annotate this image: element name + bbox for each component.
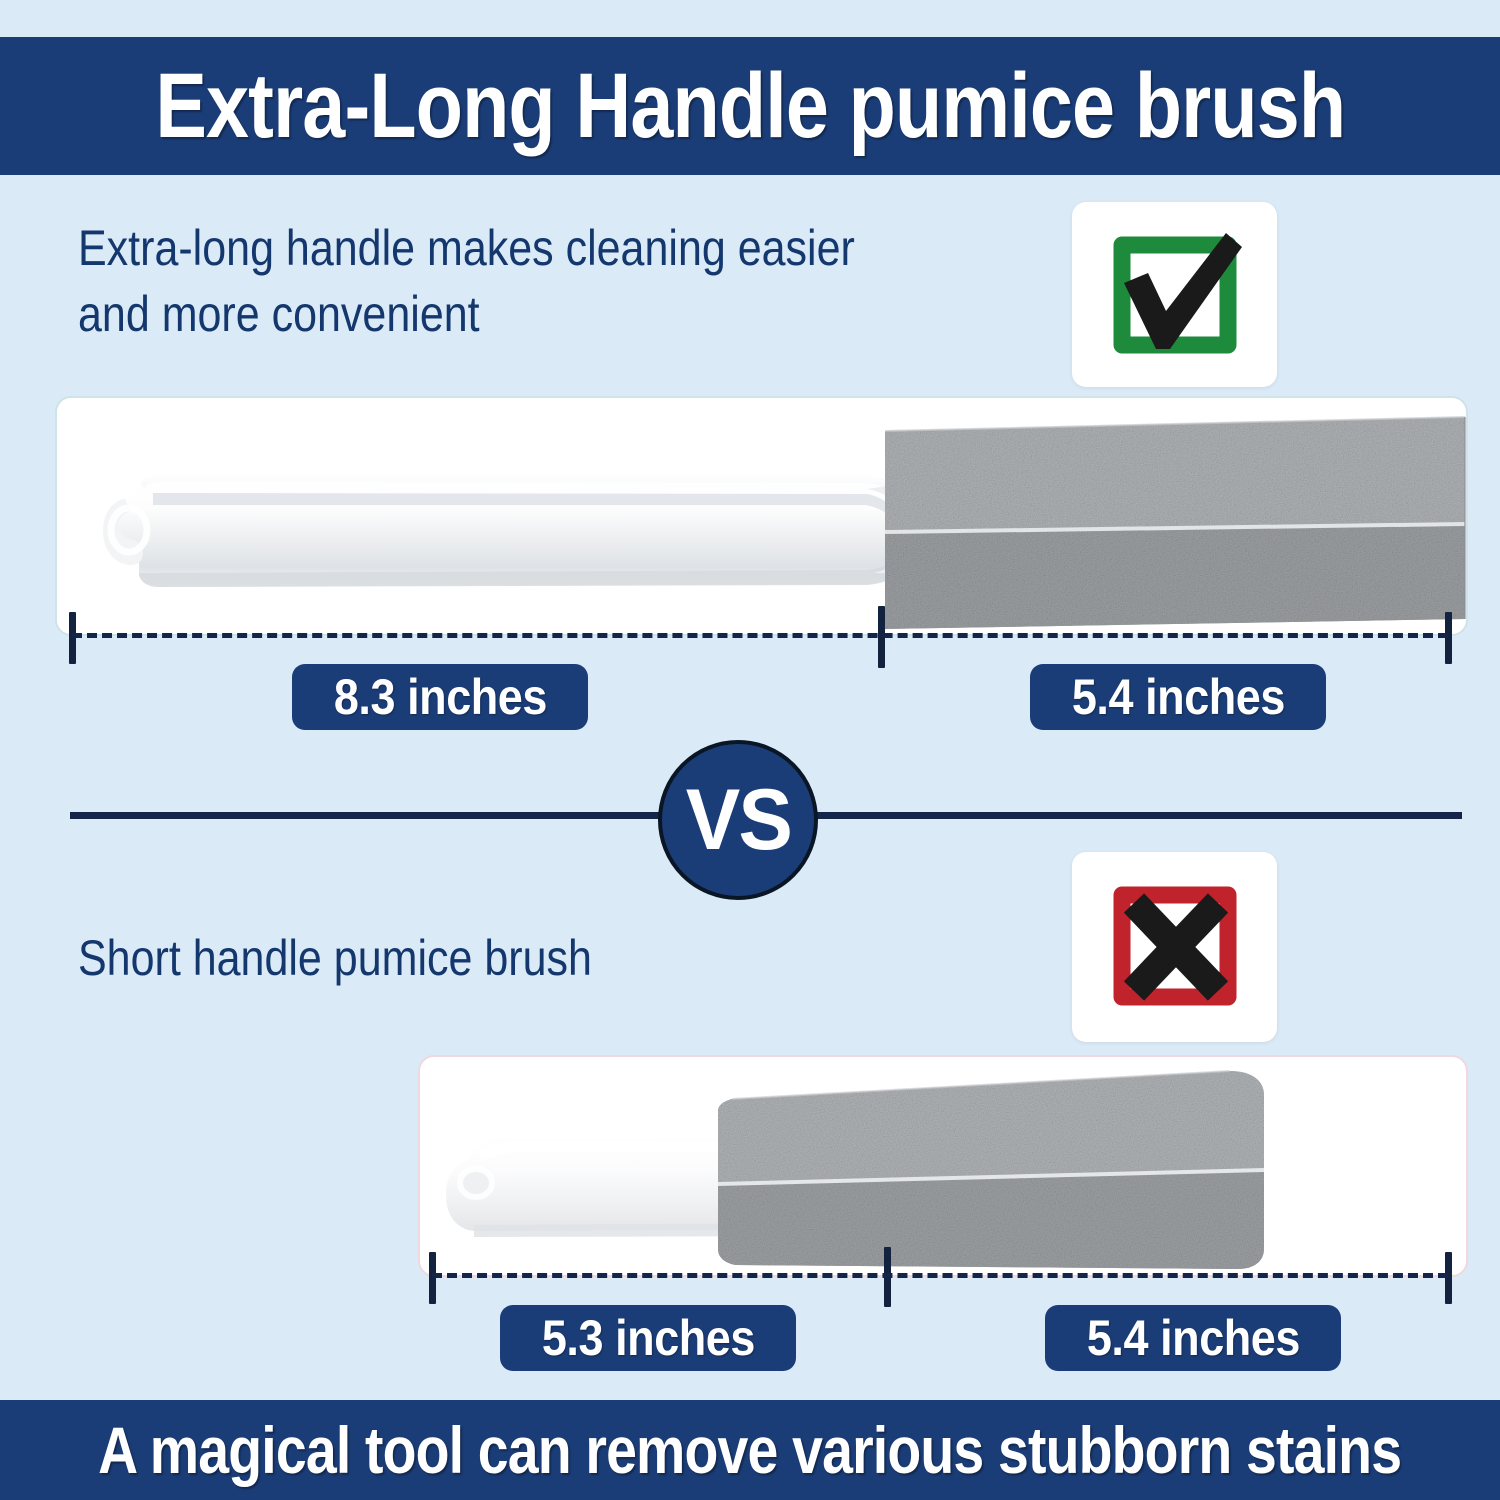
- cross-status-card: [1072, 852, 1277, 1042]
- footer-tagline: A magical tool can remove various stubbo…: [98, 1414, 1401, 1486]
- long-handle-product-card: [55, 396, 1468, 636]
- short-handle-product-card: [418, 1055, 1468, 1277]
- good-product-description: Extra-long handle makes cleaning easier …: [78, 215, 1110, 347]
- measurement-badge-short-stone: 5.4 inches: [1045, 1305, 1341, 1371]
- dimension-tick-short-end: [1445, 1252, 1452, 1304]
- measurement-badge-long-stone: 5.4 inches: [1030, 664, 1326, 730]
- check-icon: [1100, 225, 1250, 365]
- versus-label: VS: [685, 777, 790, 863]
- measurement-badge-short-handle: 5.3 inches: [500, 1305, 796, 1371]
- versus-badge: VS: [658, 740, 818, 900]
- infographic-page: Extra-Long Handle pumice brush Extra-lon…: [0, 0, 1500, 1500]
- measurement-label: 5.4 inches: [1071, 668, 1284, 726]
- check-status-card: [1072, 202, 1277, 387]
- long-handle-graphic: [67, 453, 927, 598]
- dimension-tick-long-end: [1445, 612, 1452, 664]
- measurement-badge-long-handle: 8.3 inches: [292, 664, 588, 730]
- bad-product-description: Short handle pumice brush: [78, 925, 1110, 991]
- measurement-label: 5.4 inches: [1086, 1309, 1299, 1367]
- dimension-line-long: [72, 633, 1448, 638]
- measurement-label: 8.3 inches: [333, 668, 546, 726]
- footer-banner: A magical tool can remove various stubbo…: [0, 1400, 1500, 1500]
- cross-icon: [1100, 875, 1250, 1020]
- page-title: Extra-Long Handle pumice brush: [155, 56, 1345, 156]
- dimension-tick-short-start: [429, 1252, 436, 1304]
- pumice-stone-graphic-short: [710, 1059, 1272, 1277]
- pumice-stone-graphic-long: [879, 401, 1468, 636]
- header-banner: Extra-Long Handle pumice brush: [0, 37, 1500, 175]
- dimension-tick-long-start: [69, 612, 76, 664]
- measurement-label: 5.3 inches: [541, 1309, 754, 1367]
- dimension-line-short: [432, 1273, 1448, 1278]
